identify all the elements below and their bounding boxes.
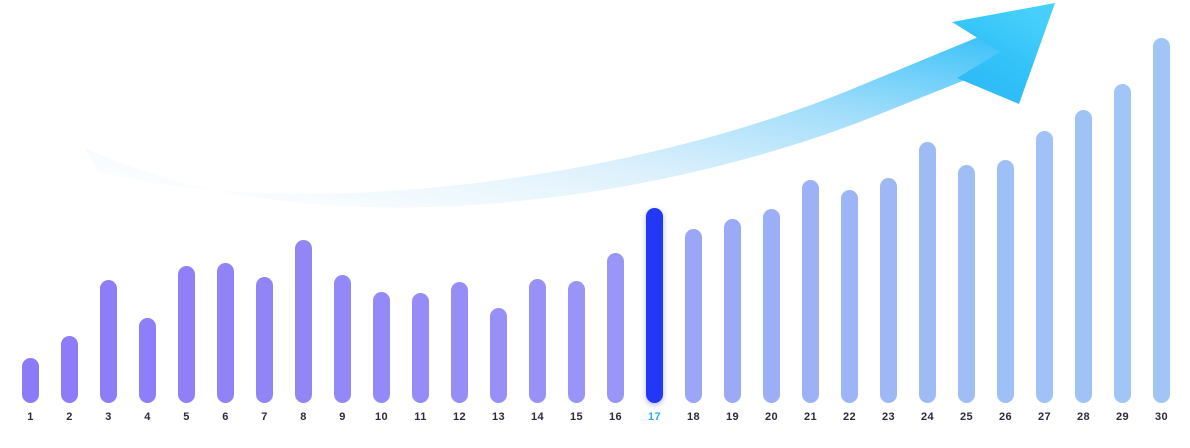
bar[interactable] (61, 336, 78, 403)
bar-highlighted[interactable] (646, 208, 663, 403)
bar[interactable] (724, 219, 741, 403)
bar[interactable] (568, 281, 585, 403)
x-axis-label-1: 1 (12, 410, 49, 424)
bar[interactable] (256, 277, 273, 403)
bar[interactable] (997, 160, 1014, 403)
bar[interactable] (685, 229, 702, 403)
bar[interactable] (529, 279, 546, 403)
x-axis-label-15: 15 (558, 410, 595, 424)
x-axis-label-26: 26 (987, 410, 1024, 424)
bar[interactable] (100, 280, 117, 403)
x-axis-label-24: 24 (909, 410, 946, 424)
x-axis-label-28: 28 (1065, 410, 1102, 424)
bar[interactable] (1036, 131, 1053, 403)
bar[interactable] (1075, 110, 1092, 403)
bar[interactable] (217, 263, 234, 403)
x-axis-label-17: 17 (636, 410, 673, 424)
bar[interactable] (958, 165, 975, 403)
x-axis-label-6: 6 (207, 410, 244, 424)
bar[interactable] (334, 275, 351, 403)
bar[interactable] (763, 209, 780, 403)
bar[interactable] (178, 266, 195, 403)
bar[interactable] (1114, 84, 1131, 403)
bar[interactable] (880, 178, 897, 403)
x-axis-label-9: 9 (324, 410, 361, 424)
x-axis-label-3: 3 (90, 410, 127, 424)
x-axis-label-13: 13 (480, 410, 517, 424)
x-axis-label-11: 11 (402, 410, 439, 424)
x-axis-label-5: 5 (168, 410, 205, 424)
x-axis-label-16: 16 (597, 410, 634, 424)
x-axis-label-20: 20 (753, 410, 790, 424)
bar[interactable] (1153, 38, 1170, 403)
x-axis-label-12: 12 (441, 410, 478, 424)
x-axis-label-21: 21 (792, 410, 829, 424)
x-axis-label-7: 7 (246, 410, 283, 424)
x-axis-label-18: 18 (675, 410, 712, 424)
bar[interactable] (802, 180, 819, 403)
x-axis-label-2: 2 (51, 410, 88, 424)
bar[interactable] (139, 318, 156, 403)
x-axis-label-30: 30 (1143, 410, 1180, 424)
x-axis-label-29: 29 (1104, 410, 1141, 424)
x-axis-label-25: 25 (948, 410, 985, 424)
bars-container (0, 0, 1190, 448)
x-axis-label-27: 27 (1026, 410, 1063, 424)
bar[interactable] (919, 142, 936, 403)
x-axis-label-10: 10 (363, 410, 400, 424)
bar[interactable] (412, 293, 429, 403)
x-axis-label-4: 4 (129, 410, 166, 424)
bar[interactable] (22, 358, 39, 403)
x-axis-label-14: 14 (519, 410, 556, 424)
bar[interactable] (607, 253, 624, 403)
bar[interactable] (841, 190, 858, 403)
x-axis-label-22: 22 (831, 410, 868, 424)
x-axis-label-8: 8 (285, 410, 322, 424)
x-axis-label-23: 23 (870, 410, 907, 424)
growth-bar-chart: 1234567891011121314151617181920212223242… (0, 0, 1190, 448)
x-axis-label-19: 19 (714, 410, 751, 424)
bar[interactable] (451, 282, 468, 403)
bar[interactable] (490, 308, 507, 403)
bar[interactable] (295, 240, 312, 403)
bar[interactable] (373, 292, 390, 403)
